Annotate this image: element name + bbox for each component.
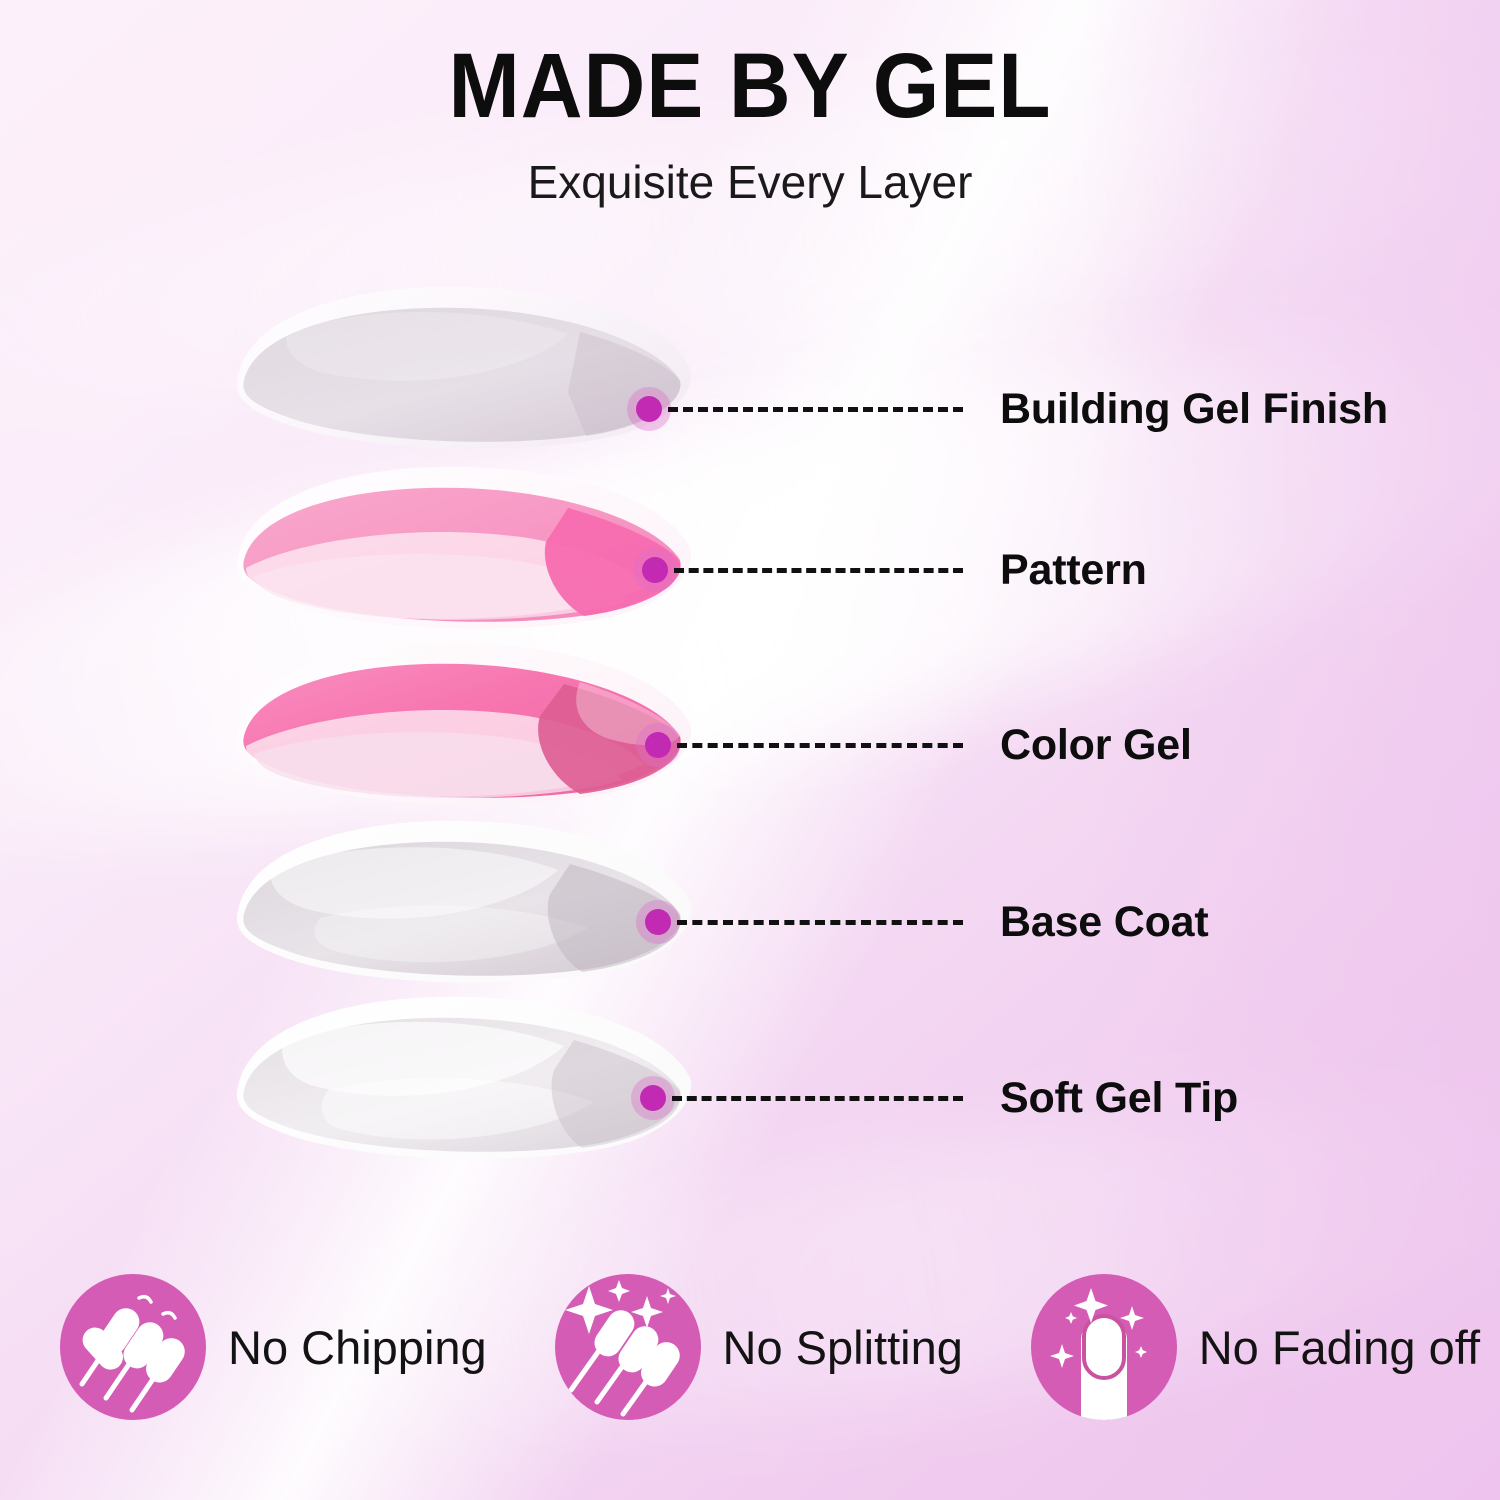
feature-badge-row: No Chipping	[60, 1262, 1480, 1432]
nail-layer-building-gel-finish	[228, 272, 698, 462]
layer-label-color-gel: Color Gel	[1000, 721, 1192, 770]
layer-label-soft-gel-tip: Soft Gel Tip	[1000, 1074, 1238, 1123]
nail-layer-base-coat	[228, 806, 698, 996]
single-nail-sparkle-icon	[1031, 1274, 1177, 1420]
three-nails-icon	[60, 1274, 206, 1420]
layer-marker-dot-pattern	[642, 557, 668, 583]
layer-marker-dot-base-coat	[645, 909, 671, 935]
leader-line-color-gel	[677, 743, 963, 748]
layer-label-base-coat: Base Coat	[1000, 898, 1209, 947]
feature-label-no-splitting: No Splitting	[723, 1320, 963, 1375]
infographic-canvas: MADE BY GEL Exquisite Every Layer	[0, 0, 1500, 1500]
layer-marker-dot-soft-gel-tip	[640, 1085, 666, 1111]
nail-layer-color-gel	[228, 628, 698, 818]
feature-label-no-fading-off: No Fading off	[1199, 1320, 1480, 1375]
nail-layer-pattern	[228, 452, 698, 642]
leader-line-building-gel-finish	[668, 407, 963, 412]
leader-line-base-coat	[677, 920, 963, 925]
layer-marker-dot-building-gel-finish	[636, 396, 662, 422]
leader-line-soft-gel-tip	[672, 1096, 963, 1101]
layer-label-pattern: Pattern	[1000, 546, 1147, 595]
feature-no-splitting: No Splitting	[555, 1274, 963, 1420]
sparkle-nails-icon	[555, 1274, 701, 1420]
feature-label-no-chipping: No Chipping	[228, 1320, 487, 1375]
nail-layer-soft-gel-tip	[228, 982, 698, 1172]
layer-marker-dot-color-gel	[645, 732, 671, 758]
feature-no-fading-off: No Fading off	[1031, 1274, 1480, 1420]
layer-label-building-gel-finish: Building Gel Finish	[1000, 385, 1388, 434]
feature-no-chipping: No Chipping	[60, 1274, 487, 1420]
leader-line-pattern	[674, 568, 963, 573]
